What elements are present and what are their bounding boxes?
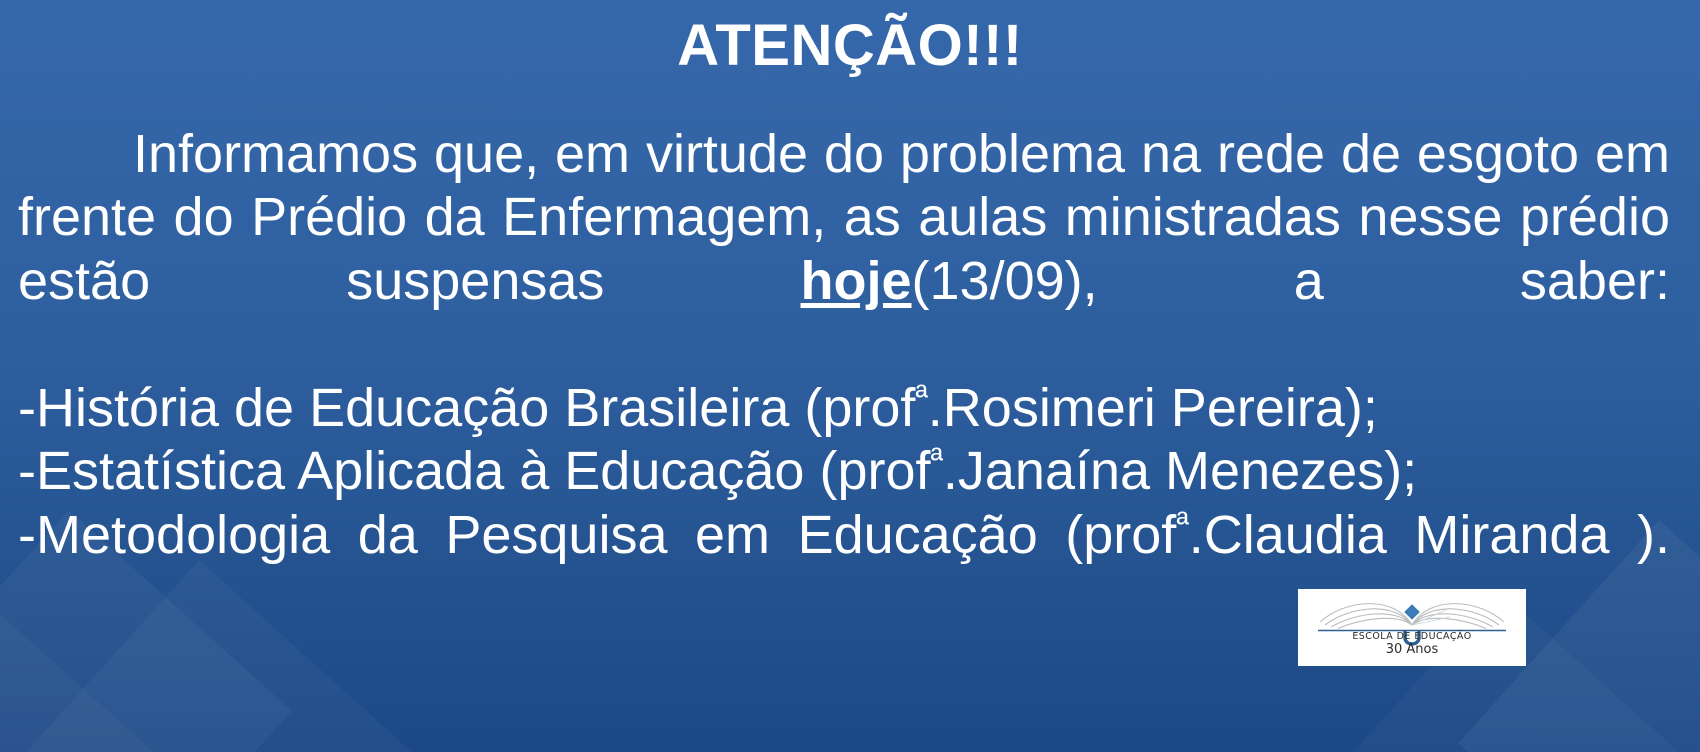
emphasis-hoje: hoje: [801, 251, 912, 311]
school-logo: ESCOLA DE EDUCAÇÃO 30 Anos: [1298, 589, 1526, 666]
list-item-suffix: .Janaína Menezes);: [943, 441, 1417, 501]
list-item-suffix: .Rosimeri Pereira);: [928, 378, 1378, 438]
ordinal-indicator: ª: [931, 443, 943, 480]
slide-body: Informamos que, em virtude do problema n…: [18, 123, 1670, 631]
body-paragraph: Informamos que, em virtude do problema n…: [18, 123, 1670, 377]
logo-school-name: ESCOLA DE EDUCAÇÃO: [1298, 631, 1526, 642]
presentation-slide: ATENÇÃO!!! Informamos que, em virtude do…: [0, 0, 1700, 752]
list-item-prefix: -Estatística Aplicada à Educação (prof: [18, 441, 931, 501]
logo-anniversary: 30 Anos: [1298, 642, 1526, 657]
list-item-prefix: -História de Educação Brasileira (prof: [18, 378, 915, 438]
paragraph-text-after-emphasis: (13/09), a saber:: [912, 251, 1670, 311]
list-item-suffix: .Claudia Miranda ).: [1189, 505, 1670, 565]
list-item: -História de Educação Brasileira (profª.…: [18, 377, 1670, 440]
ordinal-indicator: ª: [915, 379, 927, 416]
ordinal-indicator: ª: [1176, 506, 1188, 543]
list-item: -Estatística Aplicada à Educação (profª.…: [18, 440, 1670, 503]
list-item-prefix: -Metodologia da Pesquisa em Educação (pr…: [18, 505, 1176, 565]
slide-title: ATENÇÃO!!!: [0, 16, 1700, 77]
